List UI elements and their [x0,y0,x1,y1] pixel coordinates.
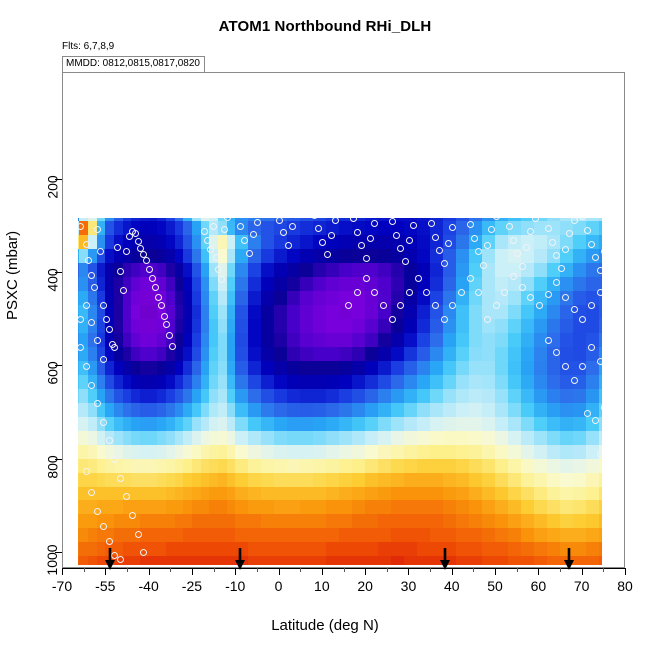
x-axis-tick [62,568,63,575]
scatter-point [406,289,413,296]
x-axis-tick [538,568,539,575]
scatter-point [311,218,318,219]
x-axis-title: Latitude (deg N) [0,617,650,634]
scatter-point [592,254,599,261]
scatter-point [475,248,482,255]
scatter-point [523,244,530,251]
scatter-point [579,218,586,220]
y-axis-tick-label: 600 [44,362,60,385]
scatter-point [441,260,448,267]
scatter-point [117,268,124,275]
scatter-point [514,250,521,257]
scatter-point [129,512,136,519]
scatter-point [571,306,578,313]
scatter-point [519,263,526,270]
y-axis-tick-label: 400 [44,269,60,292]
scatter-point [289,223,296,230]
profile-marker-arrow [233,548,247,570]
scatter-point [207,246,214,253]
scatter-point [558,265,565,272]
x-axis-tick-label: -55 [95,578,115,594]
scatter-point [601,404,602,411]
scatter-point [475,289,482,296]
scatter-point [94,337,101,344]
y-axis-line [62,72,63,568]
scatter-point [553,349,560,356]
scatter-point [254,219,261,226]
scatter-point [241,237,248,244]
scatter-point [566,230,573,237]
scatter-point [117,475,124,482]
x-axis-tick-label: 40 [444,578,460,594]
scatter-point [371,289,378,296]
scatter-point [123,248,130,255]
scatter-point [114,244,121,251]
scatter-point [117,556,124,563]
x-axis-tick-label: 80 [617,578,633,594]
scatter-point [83,468,90,475]
x-axis-tick-label: 60 [531,578,547,594]
y-axis-tick-label: 1000 [44,544,60,575]
scatter-point [597,358,603,365]
scatter-point [111,456,118,463]
scatter-point [432,302,439,309]
scatter-point [380,302,387,309]
scatter-point [441,316,448,323]
scatter-point [94,400,101,407]
scatter-point [571,218,578,224]
scatter-point [169,343,176,350]
x-axis-tick [582,568,583,575]
scatter-point [588,241,595,248]
scatter-point [120,287,127,294]
scatter-point [601,248,602,255]
scatter-point [83,302,90,309]
x-axis-tick-label: 10 [314,578,330,594]
scatter-point [579,316,586,323]
scatter-point [106,538,113,545]
scatter-point [218,276,225,283]
scatter-point [88,319,95,326]
scatter-point [545,337,552,344]
x-axis-minor-tick [603,568,604,572]
scatter-point [397,245,404,252]
scatter-point [354,229,361,236]
scatter-point [367,235,374,242]
scatter-point [85,257,92,264]
scatter-point [449,302,456,309]
scatter-point [436,247,443,254]
profile-marker-arrow [438,548,452,570]
scatter-point [389,218,396,225]
scatter-point [488,226,495,233]
x-axis-minor-tick [430,568,431,572]
scatter-point [410,222,417,229]
x-axis-tick-label: -70 [52,578,72,594]
scatter-point [536,302,543,309]
scatter-point [597,451,603,458]
x-axis-tick [408,568,409,575]
scatter-point [484,316,491,323]
scatter-point [350,218,357,222]
x-axis-minor-tick [84,568,85,572]
profile-marker-arrow [103,548,117,570]
scatter-point [123,493,130,500]
scatter-point [158,302,165,309]
scatter-point [545,225,552,232]
scatter-point [204,237,211,244]
scatter-point [428,220,435,227]
scatter-point [354,289,361,296]
scatter-point [532,218,539,222]
scatter-point [519,284,526,291]
scatter-point [597,289,603,296]
scatter-point [78,316,84,323]
scatter-point [358,242,365,249]
scatter-point [562,294,569,301]
scatter-point [480,262,487,269]
x-axis-minor-tick [517,568,518,572]
scatter-point [78,223,84,230]
scatter-point [88,272,95,279]
scatter-point [250,231,257,238]
scatter-point [100,419,107,426]
scatter-point [161,313,168,320]
x-axis-tick-label: 50 [487,578,503,594]
scatter-point [471,235,478,242]
scatter-point [584,227,591,234]
scatter-point [132,230,139,237]
scatter-point [280,229,287,236]
scatter-point [332,218,339,224]
flights-label: Flts: 6,7,8,9 [62,41,114,52]
scatter-point [149,275,156,282]
scatter-point [562,363,569,370]
scatter-point [588,302,595,309]
scatter-point [83,363,90,370]
scatter-point [423,289,430,296]
x-axis-tick-label: 0 [275,578,283,594]
scatter-point [549,239,556,246]
scatter-point [527,294,534,301]
scatter-point [111,344,118,351]
scatter-point [88,382,95,389]
x-axis-minor-tick [344,568,345,572]
scatter-point [579,363,586,370]
scatter-point [393,232,400,239]
scatter-point [215,266,222,273]
scatter-point [210,223,217,230]
scatter-point [415,275,422,282]
x-axis-tick-label: -40 [138,578,158,594]
scatter-point [152,284,159,291]
scatter-point [527,228,534,235]
scatter-point [345,302,352,309]
x-axis-tick-label: -10 [225,578,245,594]
scatter-point [166,332,173,339]
x-axis-tick [365,568,366,575]
scatter-point [100,523,107,530]
scatter-point [467,221,474,228]
scatter-point [592,417,599,424]
scatter-point [213,254,220,261]
x-axis-minor-tick [127,568,128,572]
scatter-point [597,267,603,274]
scatter-point [363,255,370,262]
scatter-point [100,356,107,363]
scatter-point [501,289,508,296]
scatter-point [584,410,591,417]
scatter-point [135,531,142,538]
scatter-point [553,252,560,259]
scatter-point [276,218,283,224]
scatter-point [371,220,378,227]
x-axis-tick [149,568,150,575]
scatter-point [106,437,113,444]
scatter-point [588,344,595,351]
scatter-point [545,291,552,298]
scatter-point [78,344,84,351]
scatter-point [458,289,465,296]
scatter-point [140,549,147,556]
scatter-point [91,284,98,291]
scatter-point [94,226,101,233]
x-axis-tick-label: -25 [182,578,202,594]
scatter-point [562,246,569,253]
mmdd-label: MMDD: 0812,0815,0817,0820 [62,56,205,73]
x-axis-minor-tick [257,568,258,572]
scatter-point [88,489,95,496]
x-axis-minor-tick [387,568,388,572]
x-axis-minor-tick [473,568,474,572]
y-axis-tick-label: 800 [44,455,60,478]
scatter-point [510,273,517,280]
scatter-point [83,241,90,248]
scatter-point [406,237,413,244]
scatter-point [246,250,253,257]
scatter-point [315,225,322,232]
scatter-point [449,224,456,231]
x-axis-tick [495,568,496,575]
scatter-point [432,234,439,241]
x-axis-minor-tick [300,568,301,572]
scatter-point [94,508,101,515]
scatter-overlay [78,218,602,565]
scatter-point [397,302,404,309]
scatter-point [445,240,452,247]
scatter-point [97,248,104,255]
scatter-point [285,242,292,249]
scatter-point [106,326,113,333]
scatter-point [493,302,500,309]
x-axis-tick-label: 20 [357,578,373,594]
scatter-point [493,218,500,220]
scatter-point [510,237,517,244]
scatter-point [363,275,370,282]
x-axis-tick [279,568,280,575]
scatter-point [100,302,107,309]
scatter-point [389,316,396,323]
x-axis-tick [322,568,323,575]
scatter-point [221,226,228,233]
x-axis-minor-tick [170,568,171,572]
x-axis-tick-label: 30 [401,578,417,594]
y-axis-tick-label: 200 [44,176,60,199]
scatter-point [402,258,409,265]
scatter-point [224,218,231,221]
profile-marker-arrow [562,548,576,570]
page-title: ATOM1 Northbound RHi_DLH [0,18,650,35]
scatter-point [328,232,335,239]
x-axis-tick-label: 70 [574,578,590,594]
scatter-point [553,279,560,286]
scatter-point [484,242,491,249]
y-axis-title: PSXC (mbar) [4,231,21,320]
scatter-point [146,266,153,273]
x-axis-tick [625,568,626,575]
scatter-point [506,223,513,230]
scatter-point [155,294,162,301]
x-axis-minor-tick [214,568,215,572]
scatter-point [103,316,110,323]
scatter-point [237,223,244,230]
scatter-point [319,239,326,246]
scatter-point [143,257,150,264]
scatter-point [324,251,331,258]
scatter-point [571,377,578,384]
scatter-point [201,228,208,235]
scatter-point [467,275,474,282]
x-axis-tick [192,568,193,575]
scatter-point [163,321,170,328]
heatmap-panel [78,218,602,565]
